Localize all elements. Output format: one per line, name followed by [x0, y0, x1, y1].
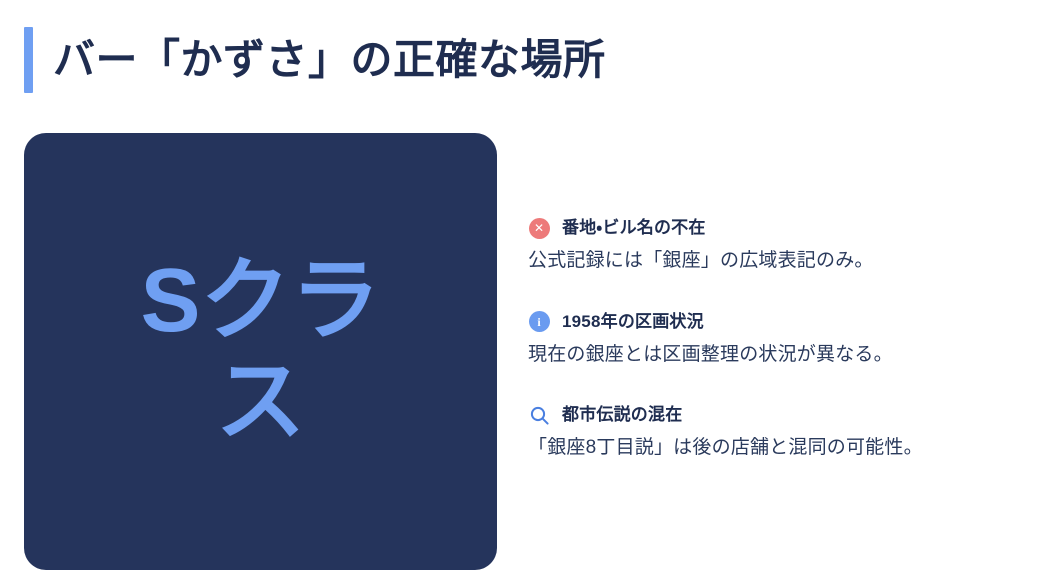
note-item: ✕ 番地・ビル名の不在 公式記録には「銀座」の広域表記のみ。 [528, 215, 1028, 275]
note-title: 都市伝説の混在 [562, 404, 682, 426]
note-body: 「銀座8丁目説」は後の店舗と混同の可能性。 [528, 434, 1028, 462]
note-item: i 1958年の区画状況 現在の銀座とは区画整理の状況が異なる。 [528, 309, 1028, 369]
notes-list: ✕ 番地・ビル名の不在 公式記録には「銀座」の広域表記のみ。 i 1958年の区… [528, 215, 1028, 462]
circle-x-icon: ✕ [528, 217, 550, 239]
page-title: バー「かずさ」の正確な場所 [33, 36, 606, 84]
note-header: 都市伝説の混在 [528, 402, 1028, 428]
note-header: i 1958年の区画状況 [528, 309, 1028, 335]
note-body: 現在の銀座とは区画整理の状況が異なる。 [528, 341, 1028, 369]
circle-x-icon-glyph: ✕ [529, 218, 550, 239]
circle-info-icon-glyph: i [529, 311, 550, 332]
search-icon [528, 404, 550, 426]
visual-card: Sクラス [24, 133, 497, 570]
note-title: 1958年の区画状況 [562, 311, 704, 333]
page-root: バー「かずさ」の正確な場所 Sクラス ✕ 番地・ビル名の不在 公式記録には「銀座… [0, 0, 1062, 588]
note-header: ✕ 番地・ビル名の不在 [528, 215, 1028, 241]
title-accent-bar [24, 27, 33, 93]
visual-card-label: Sクラス [116, 251, 406, 453]
circle-info-icon: i [528, 311, 550, 333]
note-body: 公式記録には「銀座」の広域表記のみ。 [528, 247, 1028, 275]
note-item: 都市伝説の混在 「銀座8丁目説」は後の店舗と混同の可能性。 [528, 402, 1028, 462]
note-title: 番地・ビル名の不在 [562, 217, 706, 239]
page-header: バー「かずさ」の正確な場所 [24, 26, 606, 94]
